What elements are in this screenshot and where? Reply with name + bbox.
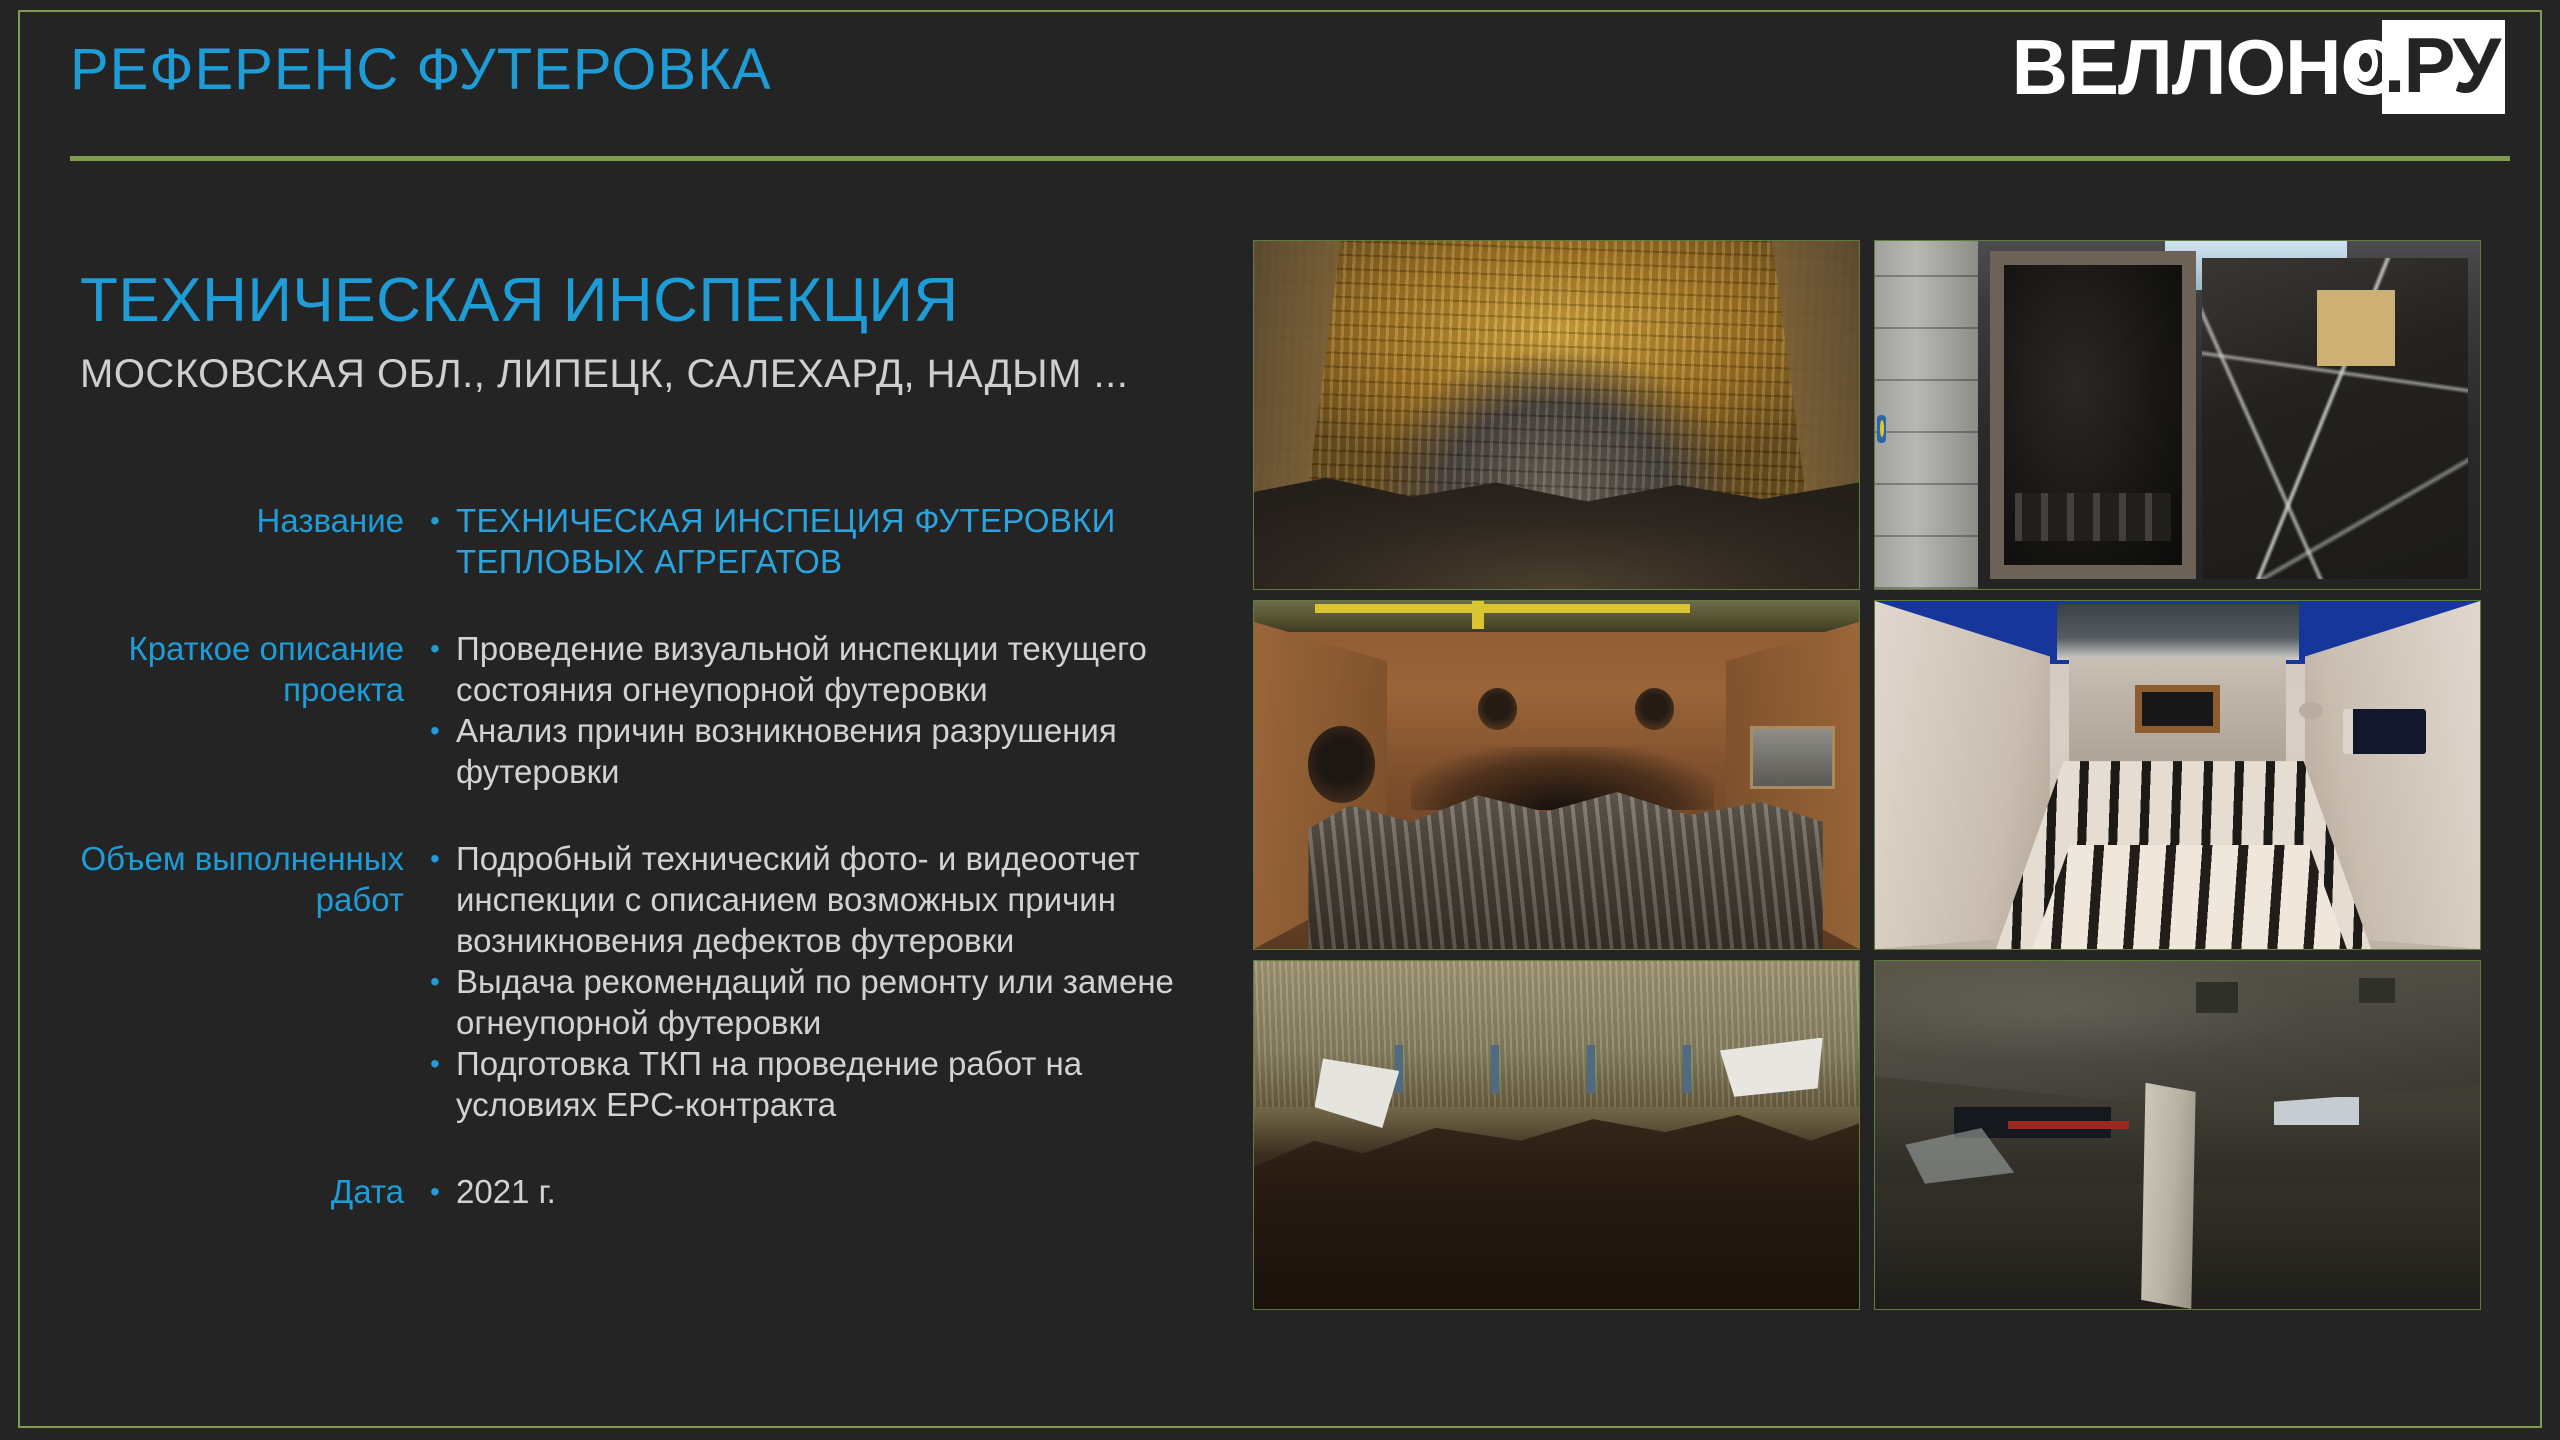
photo-detail xyxy=(2141,1083,2195,1309)
info-row-date: Дата • 2021 г. xyxy=(40,1171,1220,1212)
photo-gallery xyxy=(1253,240,2503,1310)
list-item-text: 2021 г. xyxy=(456,1171,1220,1212)
photo-detail xyxy=(2343,709,2426,754)
photo-image xyxy=(1254,601,1859,949)
info-rows: Название • ТЕХНИЧЕСКАЯ ИНСПЕЦИЯ ФУТЕРОВК… xyxy=(40,500,1220,1212)
bullet-dot-icon: • xyxy=(430,710,456,751)
photo-detail xyxy=(1635,688,1674,730)
row-spacer xyxy=(40,582,1220,628)
photo-image xyxy=(1254,241,1859,589)
photo-rusty-boiler-chamber-with-ash xyxy=(1253,600,1860,950)
row-spacer xyxy=(40,1125,1220,1171)
photo-detail xyxy=(1254,1093,1859,1309)
list-item-text: Подготовка ТКП на проведение работ на ус… xyxy=(456,1043,1220,1125)
row-label-line-1: Краткое описание xyxy=(40,628,404,669)
row-label-name: Название xyxy=(40,500,430,541)
list-item-text: ТЕХНИЧЕСКАЯ ИНСПЕЦИЯ ФУТЕРОВКИ ТЕПЛОВЫХ … xyxy=(456,500,1220,582)
photo-detail xyxy=(2274,1097,2359,1125)
photo-eroded-lining-edge xyxy=(1253,960,1860,1310)
photo-detail xyxy=(2057,604,2299,660)
row-body-name: • ТЕХНИЧЕСКАЯ ИНСПЕЦИЯ ФУТЕРОВКИ ТЕПЛОВЫ… xyxy=(430,500,1220,582)
photo-damaged-lining-with-column xyxy=(1874,960,2481,1310)
list-item: • Подробный технический фото- и видеоотч… xyxy=(430,838,1220,961)
list-item-text: Выдача рекомендаций по ремонту или замен… xyxy=(456,961,1220,1043)
bullet-dot-icon: • xyxy=(430,500,456,541)
info-row-scope: Объем выполненных работ • Подробный техн… xyxy=(40,838,1220,1125)
photo-detail xyxy=(2196,982,2238,1013)
photo-detail xyxy=(1877,415,1886,443)
photo-detail xyxy=(1750,726,1835,789)
row-label-line-2: работ xyxy=(40,879,404,920)
row-label-scope: Объем выполненных работ xyxy=(40,838,430,920)
header-title: РЕФЕРЕНС ФУТЕРОВКА xyxy=(70,36,772,103)
photo-detail xyxy=(2299,702,2323,719)
row-label-line-1: Объем выполненных xyxy=(40,838,404,879)
company-logo: ВЕЛЛОНС .РУ xyxy=(2012,22,2505,112)
logo-dot-icon xyxy=(2352,42,2378,82)
list-item-text: Анализ причин возникновения разрушения ф… xyxy=(456,710,1220,792)
photo-detail xyxy=(1990,251,2196,578)
photo-detail xyxy=(1315,1058,1400,1128)
logo-domain-text: .РУ xyxy=(2384,21,2499,109)
list-item: • Анализ причин возникновения разрушения… xyxy=(430,710,1220,792)
row-body-scope: • Подробный технический фото- и видеоотч… xyxy=(430,838,1220,1125)
photo-detail xyxy=(1714,241,1859,589)
photo-white-refractory-chamber-tiles xyxy=(1874,600,2481,950)
bullet-dot-icon: • xyxy=(430,1043,456,1084)
row-body-date: • 2021 г. xyxy=(430,1171,1220,1212)
row-label-line-2: проекта xyxy=(40,669,404,710)
photo-detail xyxy=(2317,290,2396,367)
bullet-dot-icon: • xyxy=(430,838,456,879)
photo-detail xyxy=(1478,688,1517,730)
photo-detail xyxy=(2359,978,2395,1002)
info-row-description: Краткое описание проекта • Проведение ви… xyxy=(40,628,1220,792)
list-item: • Проведение визуальной инспекции текуще… xyxy=(430,628,1220,710)
photo-detail xyxy=(1472,601,1484,629)
photo-detail xyxy=(2135,685,2220,734)
page-subtitle: МОСКОВСКАЯ ОБЛ., ЛИПЕЦК, САЛЕХАРД, НАДЫМ… xyxy=(80,352,1128,397)
photo-arched-brick-furnace-tunnel xyxy=(1253,240,1860,590)
info-row-name: Название • ТЕХНИЧЕСКАЯ ИНСПЕЦИЯ ФУТЕРОВК… xyxy=(40,500,1220,582)
header-divider-line xyxy=(70,156,2510,161)
photo-detail xyxy=(2008,1121,2129,1129)
row-label-description: Краткое описание проекта xyxy=(40,628,430,710)
logo-domain-badge: .РУ xyxy=(2382,20,2505,114)
photo-open-furnace-door-cracked-lining xyxy=(1874,240,2481,590)
photo-detail xyxy=(1315,604,1690,612)
bullet-dot-icon: • xyxy=(430,1171,456,1212)
page-title: ТЕХНИЧЕСКАЯ ИНСПЕКЦИЯ xyxy=(80,265,959,336)
list-item: • 2021 г. xyxy=(430,1171,1220,1212)
list-item: • Подготовка ТКП на проведение работ на … xyxy=(430,1043,1220,1125)
row-body-description: • Проведение визуальной инспекции текуще… xyxy=(430,628,1220,792)
photo-detail xyxy=(1254,241,1399,589)
list-item-text: Подробный технический фото- и видеоотчет… xyxy=(456,838,1220,961)
logo-wordmark: ВЕЛЛОНС xyxy=(2012,28,2396,106)
row-label-date: Дата xyxy=(40,1171,430,1212)
list-item: • ТЕХНИЧЕСКАЯ ИНСПЕЦИЯ ФУТЕРОВКИ ТЕПЛОВЫ… xyxy=(430,500,1220,582)
photo-detail xyxy=(1308,726,1375,803)
photo-image xyxy=(1254,961,1859,1309)
photo-detail xyxy=(2032,845,2347,949)
list-item: • Выдача рекомендаций по ремонту или зам… xyxy=(430,961,1220,1043)
list-item-text: Проведение визуальной инспекции текущего… xyxy=(456,628,1220,710)
photo-image xyxy=(1875,961,2480,1309)
photo-detail xyxy=(1411,747,1714,810)
slide: РЕФЕРЕНС ФУТЕРОВКА ВЕЛЛОНС .РУ ТЕХНИЧЕСК… xyxy=(0,0,2560,1440)
photo-detail xyxy=(1875,241,1978,589)
row-spacer xyxy=(40,792,1220,838)
photo-image xyxy=(1875,601,2480,949)
photo-image xyxy=(1875,241,2480,589)
bullet-dot-icon: • xyxy=(430,628,456,669)
bullet-dot-icon: • xyxy=(430,961,456,1002)
